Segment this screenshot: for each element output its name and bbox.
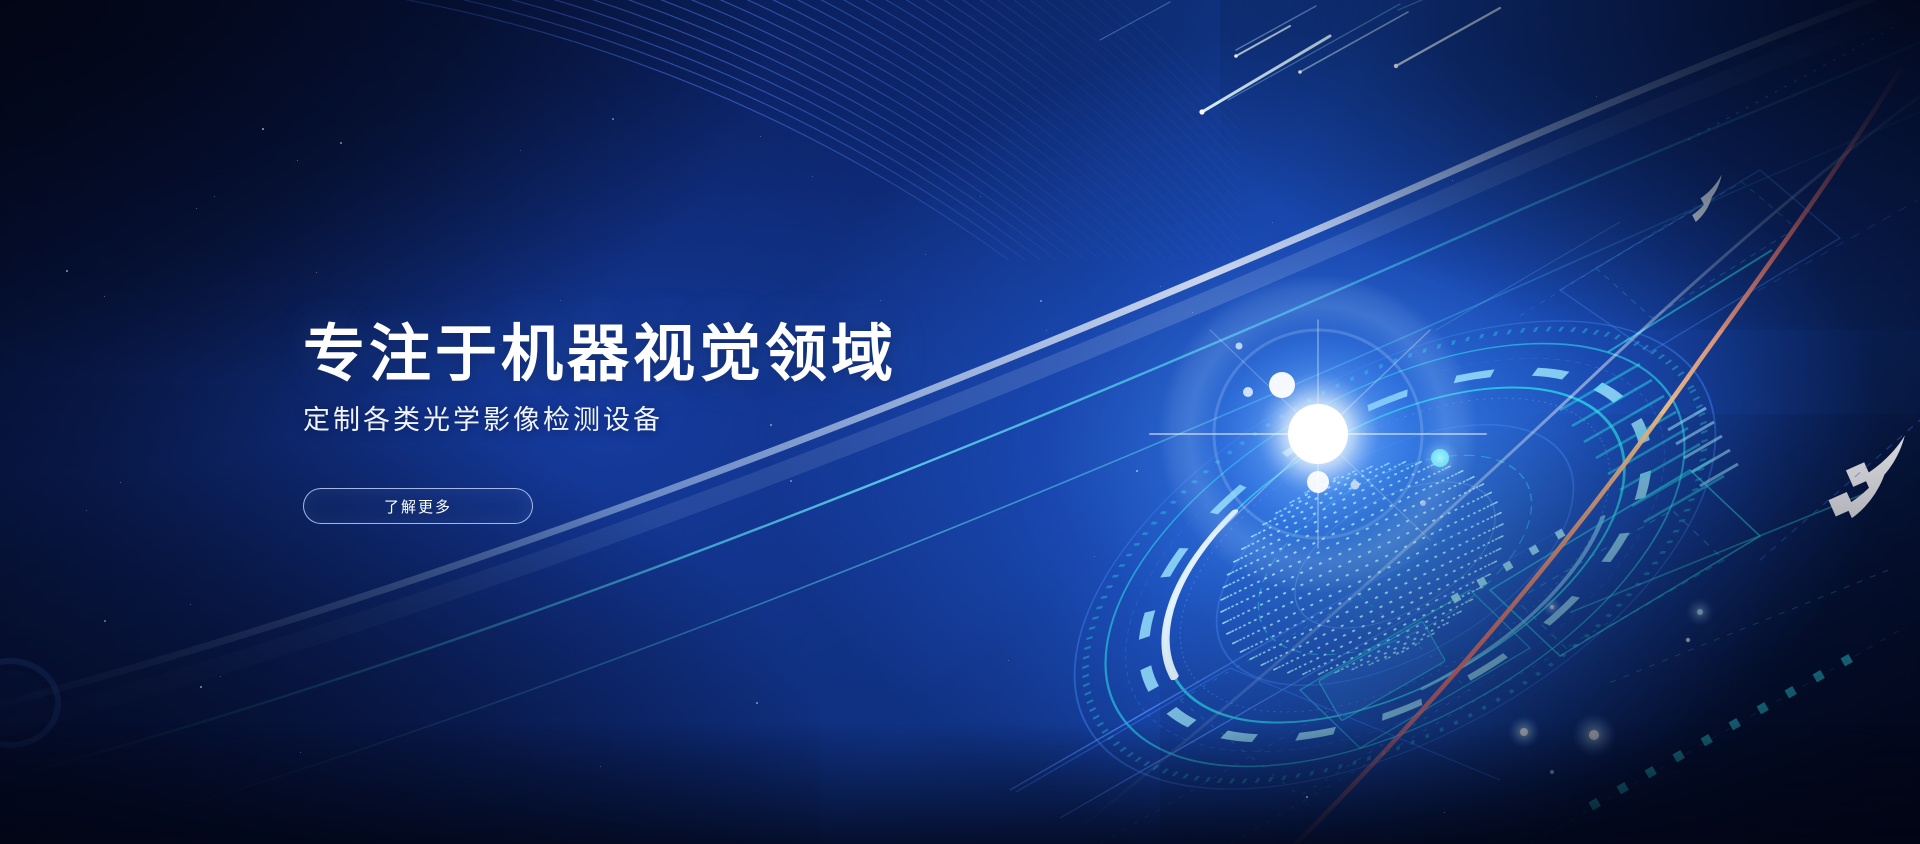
vignette-bottom-edge <box>0 724 1920 844</box>
learn-more-label: 了解更多 <box>384 496 452 517</box>
page-subtitle: 定制各类光学影像检测设备 <box>303 403 1063 438</box>
hero-content: 专注于机器视觉领域 定制各类光学影像检测设备 了解更多 <box>303 322 1063 524</box>
learn-more-button[interactable]: 了解更多 <box>303 488 533 524</box>
vignette-top-right <box>1220 0 1920 330</box>
hero-banner: 专注于机器视觉领域 定制各类光学影像检测设备 了解更多 <box>0 0 1920 844</box>
page-title: 专注于机器视觉领域 <box>303 322 1063 389</box>
